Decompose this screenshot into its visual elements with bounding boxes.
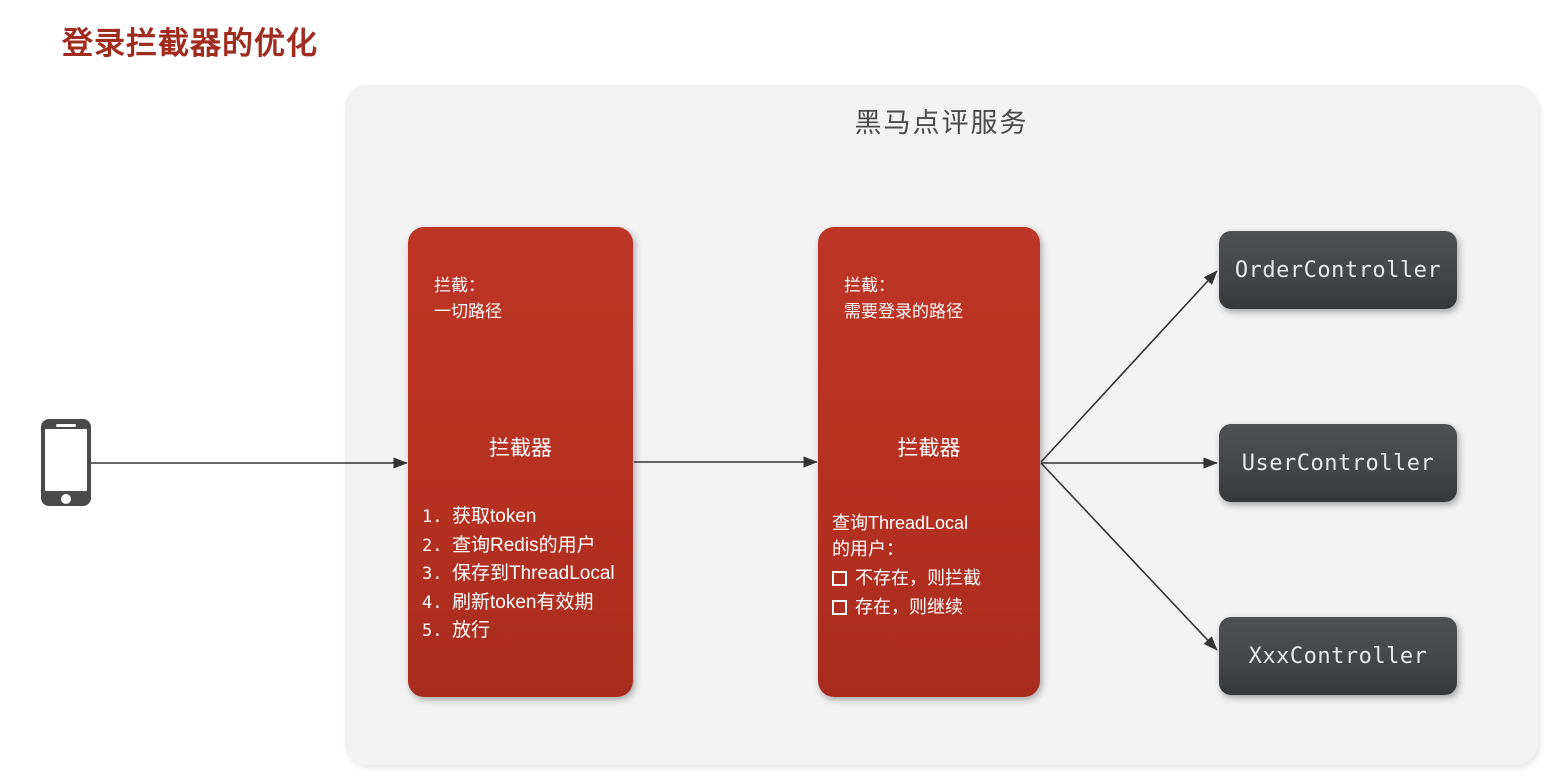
- check-text: 存在，则继续: [855, 594, 963, 620]
- interceptor-1-heading: 拦截器: [408, 432, 633, 462]
- interceptor-2-heading: 拦截器: [818, 432, 1040, 462]
- step-number: 5.: [422, 617, 452, 646]
- step-text: 放行: [452, 620, 490, 641]
- step-text: 保存到ThreadLocal: [452, 563, 615, 584]
- controller-label: XxxController: [1249, 644, 1428, 669]
- list-item: 存在，则继续: [832, 594, 981, 620]
- controller-label: UserController: [1242, 451, 1434, 476]
- check-text: 不存在，则拦截: [855, 565, 981, 591]
- threadlocal-query-line-2: 的用户：: [832, 536, 981, 562]
- phone-speaker: [56, 424, 76, 427]
- threadlocal-query-block: 查询ThreadLocal 的用户： 不存在，则拦截 存在，则继续: [832, 510, 981, 620]
- interceptor-2-scope: 拦截： 需要登录的路径: [844, 273, 963, 325]
- phone-screen: [45, 429, 87, 491]
- step-text: 查询Redis的用户: [452, 535, 596, 556]
- list-item: 3.保存到ThreadLocal: [422, 560, 615, 589]
- list-item: 1.获取token: [422, 503, 615, 532]
- step-number: 2.: [422, 532, 452, 561]
- interceptor-2-scope-value: 需要登录的路径: [844, 299, 963, 325]
- list-item: 4.刷新token有效期: [422, 589, 615, 618]
- interceptor-1-scope-label: 拦截：: [434, 273, 502, 299]
- step-number: 3.: [422, 560, 452, 589]
- interceptor-1-step-list: 1.获取token 2.查询Redis的用户 3.保存到ThreadLocal …: [422, 503, 615, 646]
- step-text: 刷新token有效期: [452, 592, 593, 613]
- step-number: 1.: [422, 503, 452, 532]
- list-item: 5.放行: [422, 617, 615, 646]
- controller-box-xxx: XxxController: [1219, 617, 1457, 695]
- interceptor-1-scope: 拦截： 一切路径: [434, 273, 502, 325]
- interceptor-box-all-paths: 拦截： 一切路径 拦截器 1.获取token 2.查询Redis的用户 3.保存…: [408, 227, 633, 697]
- phone-home-button: [61, 494, 71, 504]
- controller-label: OrderController: [1235, 258, 1441, 283]
- interceptor-box-login-paths: 拦截： 需要登录的路径 拦截器 查询ThreadLocal 的用户： 不存在，则…: [818, 227, 1040, 697]
- list-item: 不存在，则拦截: [832, 565, 981, 591]
- service-panel-title: 黑马点评服务: [345, 101, 1538, 140]
- interceptor-2-scope-label: 拦截：: [844, 273, 963, 299]
- controller-box-user: UserController: [1219, 424, 1457, 502]
- smartphone-icon: [41, 419, 91, 506]
- checkbox-icon: [832, 600, 847, 615]
- checkbox-icon: [832, 571, 847, 586]
- list-item: 2.查询Redis的用户: [422, 532, 615, 561]
- page-title: 登录拦截器的优化: [62, 18, 318, 63]
- threadlocal-query-line-1: 查询ThreadLocal: [832, 510, 981, 536]
- step-text: 获取token: [452, 506, 536, 527]
- controller-box-order: OrderController: [1219, 231, 1457, 309]
- step-number: 4.: [422, 589, 452, 618]
- interceptor-1-scope-value: 一切路径: [434, 299, 502, 325]
